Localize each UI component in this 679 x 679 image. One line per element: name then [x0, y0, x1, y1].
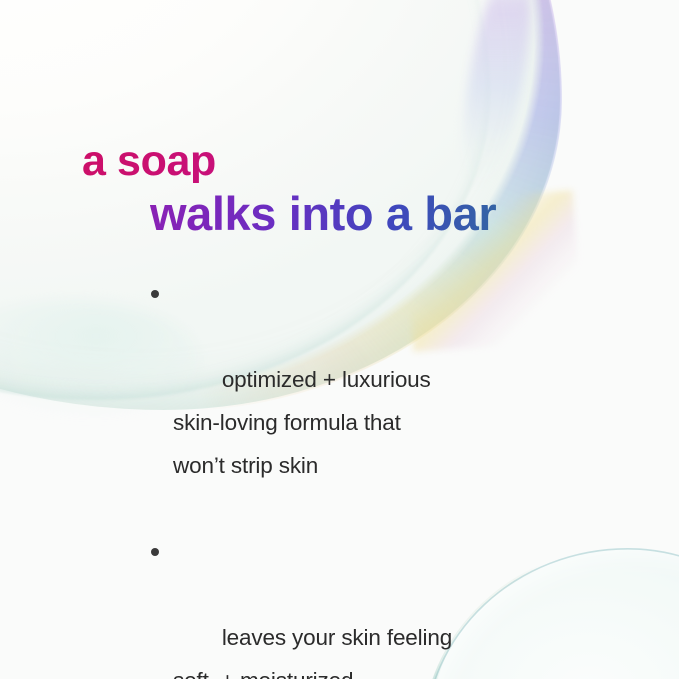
- bullet-dot-icon: [151, 548, 159, 556]
- list-item: leaves your skin feeling soft + moisturi…: [148, 530, 568, 679]
- list-item-label: leaves your skin feeling soft + moisturi…: [173, 625, 452, 679]
- bullet-dot-icon: [151, 290, 159, 298]
- soap-product-graphic: a soap walks into a bar optimized + luxu…: [0, 0, 679, 679]
- list-item: optimized + luxurious skin-loving formul…: [148, 272, 568, 530]
- headline-line-2: walks into a bar: [150, 190, 638, 237]
- headline: a soap walks into a bar: [78, 140, 638, 237]
- benefits-list: optimized + luxurious skin-loving formul…: [148, 272, 568, 679]
- headline-line-1: a soap: [82, 140, 638, 183]
- list-item-label: optimized + luxurious skin-loving formul…: [173, 367, 431, 478]
- content-layer: a soap walks into a bar optimized + luxu…: [0, 0, 679, 679]
